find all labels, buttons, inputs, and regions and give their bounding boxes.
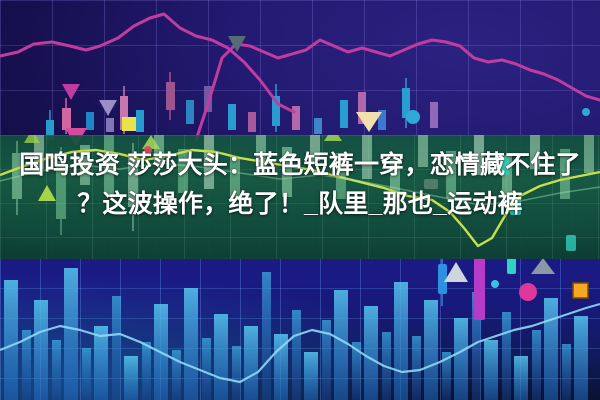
lower-markers: [438, 258, 588, 320]
square-orange-icon: [573, 283, 588, 298]
headline-overlay: 国鸣投资 莎莎大头：蓝色短裤一穿，恋情藏不住了 ？这波操作，绝了！_队里_那也_…: [0, 146, 600, 224]
triangle-up-white-icon: [444, 262, 468, 282]
triangle-down-magenta-icon: [62, 84, 80, 100]
circle-pink-icon: [519, 283, 537, 301]
circle-cyan-small-icon: [491, 280, 499, 288]
upper-magenta-price-line: [0, 14, 294, 112]
triangle-up-grey-icon: [531, 258, 555, 274]
upper-magenta-plateau-line: [196, 40, 600, 140]
bar-teal-small: [507, 258, 516, 274]
circle-cyan-icon: [406, 110, 420, 124]
headline-line-1: 国鸣投资 莎莎大头：蓝色短裤一穿，恋情藏不住了: [0, 146, 600, 185]
square-yellow-icon: [122, 117, 136, 131]
circle-small-cyan-icon: [582, 108, 590, 116]
banner-image: 国鸣投资 莎莎大头：蓝色短裤一穿，恋情藏不住了 ？这波操作，绝了！_队里_那也_…: [0, 0, 600, 400]
headline-line-2: ？这波操作，绝了！_队里_那也_运动裤: [0, 185, 600, 224]
triangle-down-violet-icon: [99, 100, 117, 116]
